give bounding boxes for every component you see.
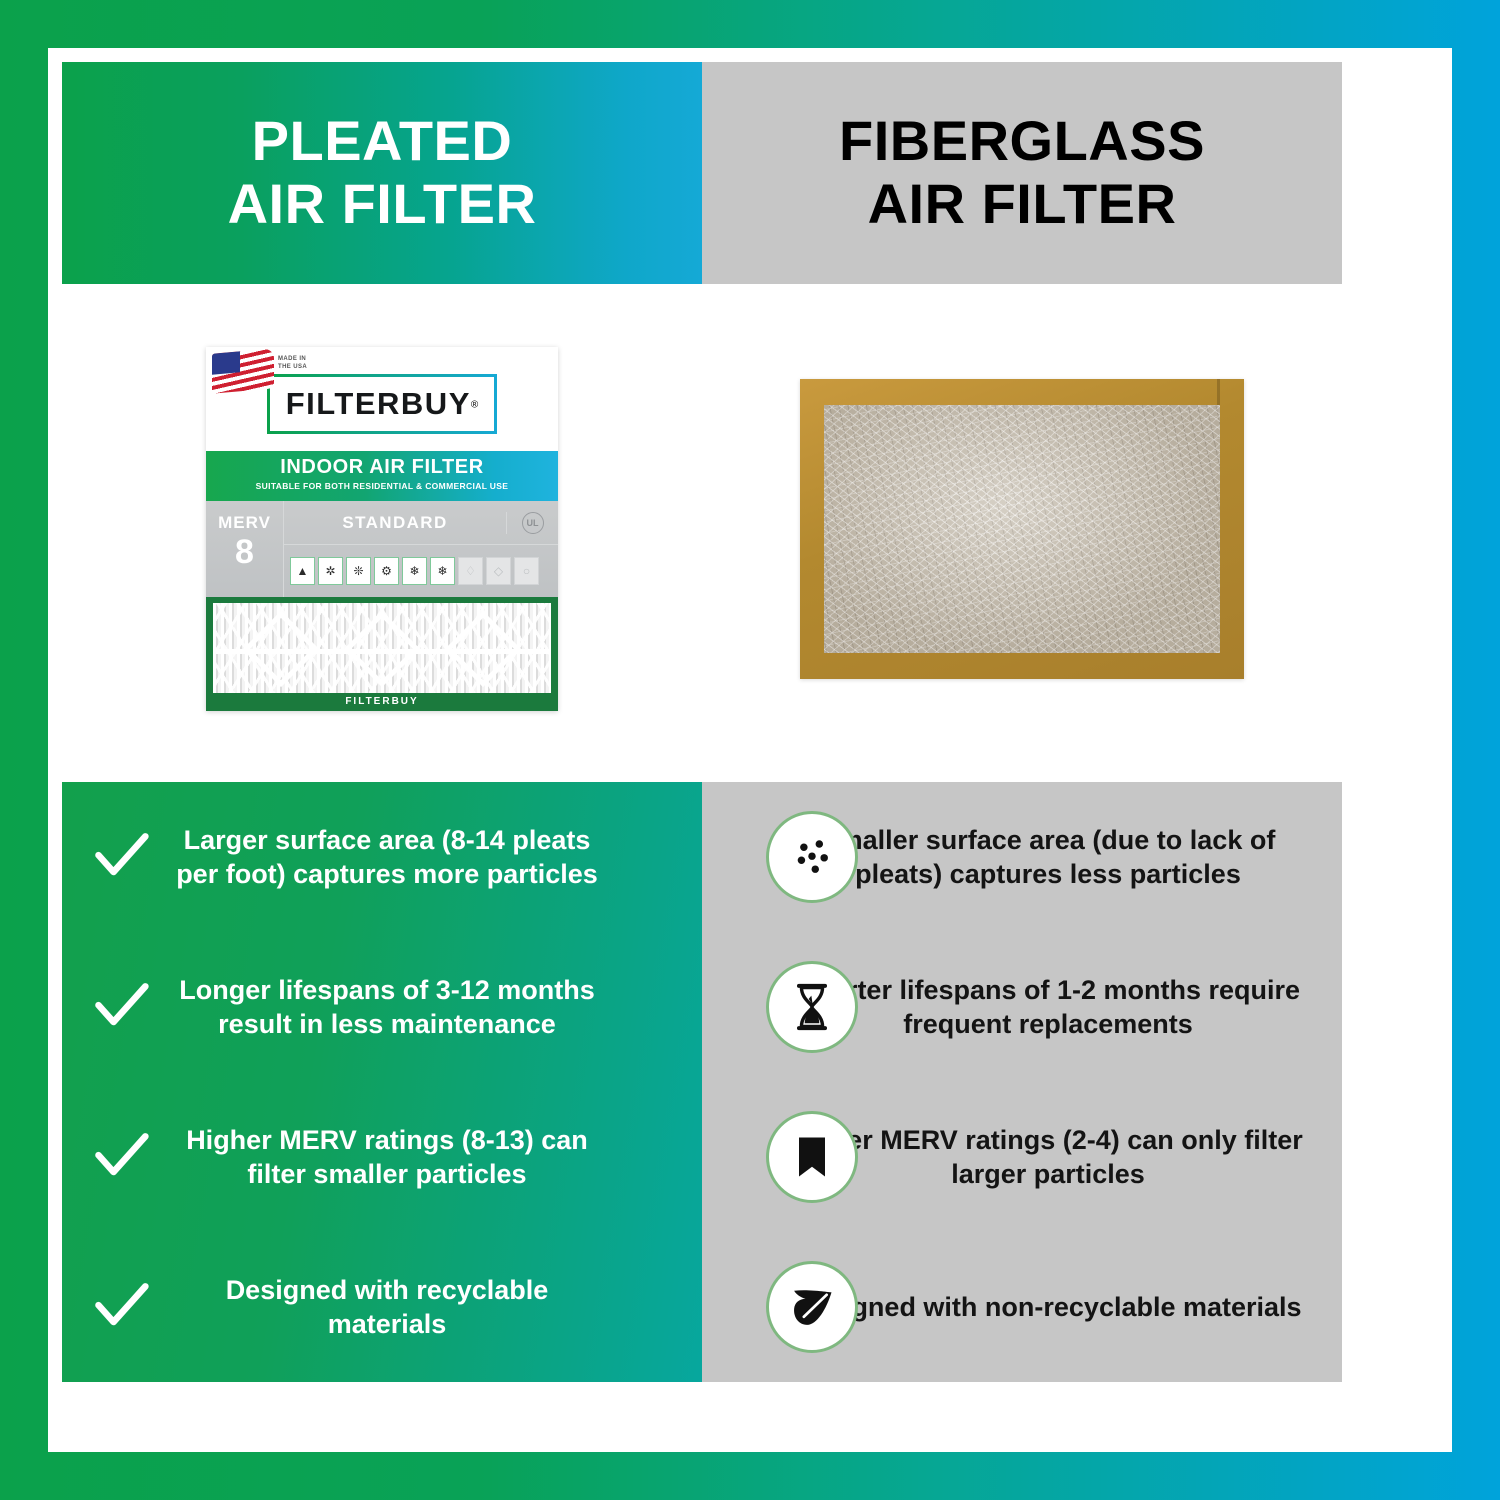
mold-icon: ⚙ bbox=[374, 557, 399, 585]
checkmark-icon bbox=[88, 1274, 154, 1340]
row-left-cell: Higher MERV ratings (8-13) can filter sm… bbox=[62, 1082, 702, 1232]
fiberglass-filter-image bbox=[800, 379, 1244, 679]
smoke-icon-disabled: ♢ bbox=[458, 557, 483, 585]
header-row: PLEATED AIR FILTER FIBERGLASS AIR FILTER bbox=[62, 62, 1342, 284]
hourglass-icon bbox=[766, 961, 858, 1053]
row-left-cell: Longer lifespans of 3-12 months result i… bbox=[62, 932, 702, 1082]
pollen-icon: ❊ bbox=[346, 557, 371, 585]
ul-certification-icon: UL bbox=[522, 512, 544, 534]
row-left-cell: Larger surface area (8-14 pleats per foo… bbox=[62, 782, 702, 932]
fiberglass-title: FIBERGLASS AIR FILTER bbox=[839, 110, 1205, 235]
box-grey-band: MERV 8 STANDARD UL ▲ ✲ ❊ bbox=[206, 501, 558, 597]
fiberglass-media-texture bbox=[824, 405, 1220, 653]
brand-logo: FILTERBUY® bbox=[267, 374, 498, 434]
leaf-icon bbox=[766, 1261, 858, 1353]
filterbuy-box-image: MADE IN THE USA FILTERBUY® INDOOR AIR FI… bbox=[206, 347, 558, 711]
comparison-row: Designed with recyclable materials Desig… bbox=[62, 1232, 1342, 1382]
header-pleated: PLEATED AIR FILTER bbox=[62, 62, 702, 284]
row-left-text: Designed with recyclable materials bbox=[168, 1273, 676, 1341]
grade-label: STANDARD bbox=[284, 513, 506, 533]
suitable-use-label: SUITABLE FOR BOTH RESIDENTIAL & COMMERCI… bbox=[206, 481, 558, 491]
merv-value: 8 bbox=[206, 535, 283, 569]
grade-section: STANDARD UL ▲ ✲ ❊ ⚙ ❄ ❄ ♢ bbox=[284, 501, 558, 597]
header-fiberglass: FIBERGLASS AIR FILTER bbox=[702, 62, 1342, 284]
product-row: MADE IN THE USA FILTERBUY® INDOOR AIR FI… bbox=[62, 284, 1342, 774]
pleat-texture bbox=[213, 603, 551, 695]
indoor-air-filter-label: INDOOR AIR FILTER bbox=[206, 456, 558, 479]
bacteria-icon: ❄ bbox=[402, 557, 427, 585]
box-top: MADE IN THE USA FILTERBUY® bbox=[206, 347, 558, 451]
comparison-rows: Larger surface area (8-14 pleats per foo… bbox=[62, 782, 1342, 1382]
comparison-section: Larger surface area (8-14 pleats per foo… bbox=[62, 782, 1342, 1382]
checkmark-icon bbox=[88, 1124, 154, 1190]
checkmark-icon bbox=[88, 974, 154, 1040]
box-green-band: INDOOR AIR FILTER SUITABLE FOR BOTH RESI… bbox=[206, 451, 558, 501]
particles-icon bbox=[766, 811, 858, 903]
merv-badge: MERV 8 bbox=[206, 501, 284, 597]
row-left-text: Longer lifespans of 3-12 months result i… bbox=[168, 973, 676, 1041]
smog-icon-disabled: ◇ bbox=[486, 557, 511, 585]
fiberglass-product-cell bbox=[702, 284, 1342, 774]
usa-flag-icon bbox=[212, 348, 274, 393]
brand-name: FILTERBUY bbox=[286, 386, 471, 421]
comparison-row: Larger surface area (8-14 pleats per foo… bbox=[62, 782, 1342, 932]
made-in-usa-label: MADE IN THE USA bbox=[278, 355, 307, 371]
ul-mark-wrap: UL bbox=[506, 512, 558, 534]
virus-icon-disabled: ○ bbox=[514, 557, 539, 585]
row-left-text: Higher MERV ratings (8-13) can filter sm… bbox=[168, 1123, 676, 1191]
grade-row: STANDARD UL bbox=[284, 501, 558, 545]
infographic-page: PLEATED AIR FILTER FIBERGLASS AIR FILTER… bbox=[0, 0, 1500, 1500]
row-left-text: Larger surface area (8-14 pleats per foo… bbox=[168, 823, 676, 891]
comparison-row: Longer lifespans of 3-12 months result i… bbox=[62, 932, 1342, 1082]
pet-dander-icon: ❄ bbox=[430, 557, 455, 585]
box-footer-brand: FILTERBUY bbox=[206, 693, 558, 711]
particle-icons-row: ▲ ✲ ❊ ⚙ ❄ ❄ ♢ ◇ ○ bbox=[284, 545, 558, 597]
dust-mite-icon: ✲ bbox=[318, 557, 343, 585]
pleated-title: PLEATED AIR FILTER bbox=[228, 110, 537, 235]
trademark-icon: ® bbox=[471, 400, 478, 411]
comparison-row: Higher MERV ratings (8-13) can filter sm… bbox=[62, 1082, 1342, 1232]
merv-label: MERV bbox=[206, 513, 283, 533]
pleated-product-cell: MADE IN THE USA FILTERBUY® INDOOR AIR FI… bbox=[62, 284, 702, 774]
dust-lint-icon: ▲ bbox=[290, 557, 315, 585]
row-left-cell: Designed with recyclable materials bbox=[62, 1232, 702, 1382]
checkmark-icon bbox=[88, 824, 154, 890]
bookmark-icon bbox=[766, 1111, 858, 1203]
